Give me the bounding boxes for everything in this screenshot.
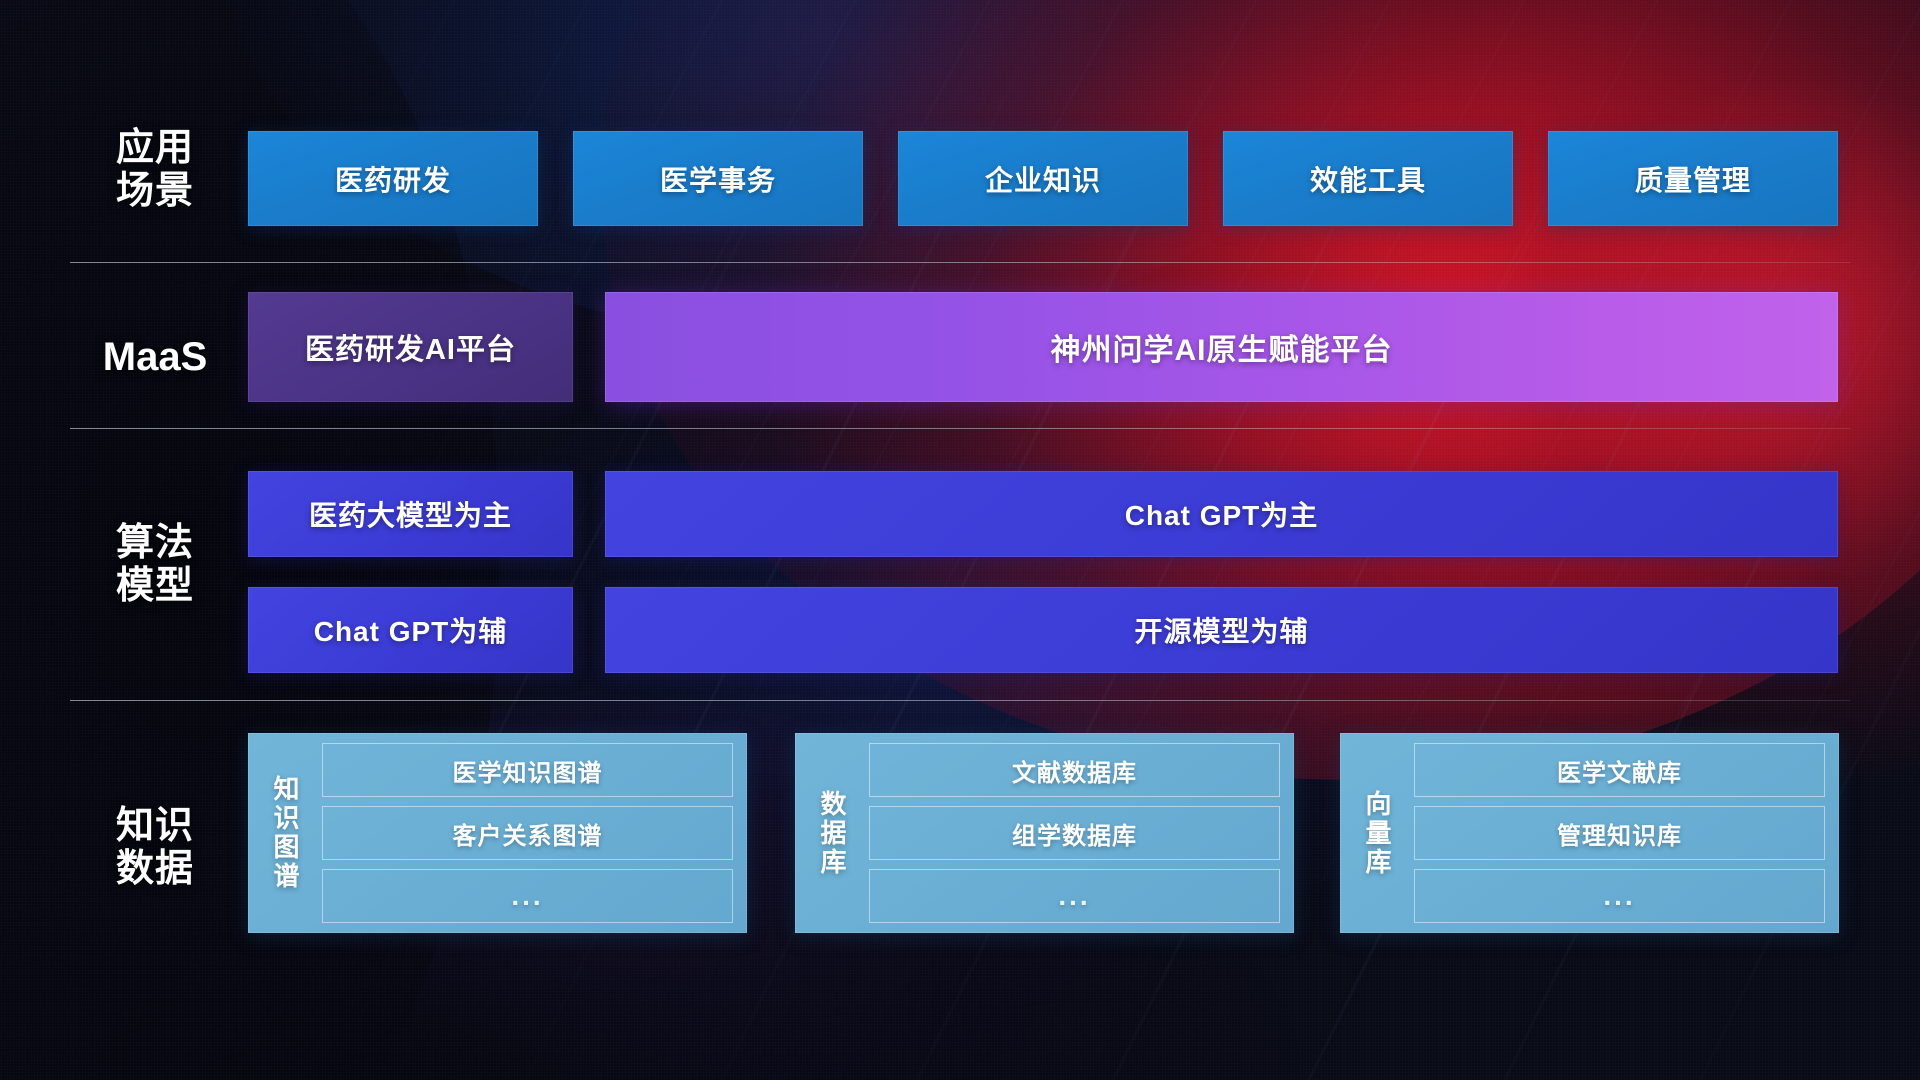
knowledge-item-more[interactable]: ... (322, 869, 733, 923)
app-box-label: 效能工具 (1310, 159, 1426, 199)
knowledge-item-more[interactable]: ... (869, 869, 1280, 923)
tier-label-line: 算法 (70, 522, 240, 565)
knowledge-panel-vertical-label: 知识图谱 (248, 743, 322, 923)
architecture-diagram: 应用 场景 医药研发 医学事务 企业知识 效能工具 质量管理 MaaS 医药研发… (0, 0, 1920, 1080)
tier-label-line: MaaS (70, 335, 240, 381)
knowledge-item[interactable]: 管理知识库 (1414, 806, 1825, 860)
tier-label-algorithm-model: 算法 模型 (70, 522, 240, 609)
maas-box-label: 医药研发AI平台 (305, 326, 516, 368)
algorithm-box-label: Chat GPT为主 (1125, 494, 1319, 534)
tier-label-line: 场景 (70, 170, 240, 213)
knowledge-panel-vector-store[interactable]: 向量库 医学文献库 管理知识库 ... (1340, 733, 1839, 933)
divider-after-algorithm-model (70, 700, 1850, 701)
maas-box-pharma-ai-platform[interactable]: 医药研发AI平台 (248, 292, 573, 402)
algorithm-box-r0c1[interactable]: Chat GPT为主 (605, 471, 1838, 557)
knowledge-panel-vertical-label: 数据库 (795, 743, 869, 923)
knowledge-panel-items: 文献数据库 组学数据库 ... (869, 743, 1280, 923)
knowledge-panel-knowledge-graph[interactable]: 知识图谱 医学知识图谱 客户关系图谱 ... (248, 733, 747, 933)
tier-label-line: 模型 (70, 565, 240, 608)
knowledge-panel-items: 医学文献库 管理知识库 ... (1414, 743, 1825, 923)
knowledge-panel-database[interactable]: 数据库 文献数据库 组学数据库 ... (795, 733, 1294, 933)
algorithm-box-r1c0[interactable]: Chat GPT为辅 (248, 587, 573, 673)
app-box-label: 企业知识 (985, 159, 1101, 199)
knowledge-panel-items: 医学知识图谱 客户关系图谱 ... (322, 743, 733, 923)
tier-label-knowledge-data: 知识 数据 (70, 805, 240, 892)
app-box-0[interactable]: 医药研发 (248, 131, 538, 226)
app-box-1[interactable]: 医学事务 (573, 131, 863, 226)
algorithm-box-r1c1[interactable]: 开源模型为辅 (605, 587, 1838, 673)
maas-box-label: 神州问学AI原生赋能平台 (1051, 325, 1393, 369)
knowledge-item[interactable]: 组学数据库 (869, 806, 1280, 860)
algorithm-box-label: Chat GPT为辅 (314, 610, 508, 650)
app-box-4[interactable]: 质量管理 (1548, 131, 1838, 226)
tier-label-line: 应用 (70, 127, 240, 170)
knowledge-item[interactable]: 医学文献库 (1414, 743, 1825, 797)
divider-after-application-scenarios (70, 262, 1850, 263)
app-box-2[interactable]: 企业知识 (898, 131, 1188, 226)
algorithm-box-label: 医药大模型为主 (309, 494, 512, 534)
algorithm-box-label: 开源模型为辅 (1134, 610, 1308, 650)
app-box-label: 医药研发 (335, 159, 451, 199)
knowledge-item[interactable]: 客户关系图谱 (322, 806, 733, 860)
knowledge-item[interactable]: 文献数据库 (869, 743, 1280, 797)
maas-box-shenzhou-wenxue-platform[interactable]: 神州问学AI原生赋能平台 (605, 292, 1838, 402)
knowledge-item-more[interactable]: ... (1414, 869, 1825, 923)
app-box-3[interactable]: 效能工具 (1223, 131, 1513, 226)
algorithm-box-r0c0[interactable]: 医药大模型为主 (248, 471, 573, 557)
app-box-label: 质量管理 (1635, 159, 1751, 199)
knowledge-item[interactable]: 医学知识图谱 (322, 743, 733, 797)
knowledge-panel-vertical-label: 向量库 (1340, 743, 1414, 923)
tier-label-line: 知识 (70, 805, 240, 848)
tier-label-application-scenarios: 应用 场景 (70, 127, 240, 214)
tier-label-maas: MaaS (70, 335, 240, 381)
app-box-label: 医学事务 (660, 159, 776, 199)
tier-label-line: 数据 (70, 848, 240, 891)
divider-after-maas (70, 428, 1850, 429)
